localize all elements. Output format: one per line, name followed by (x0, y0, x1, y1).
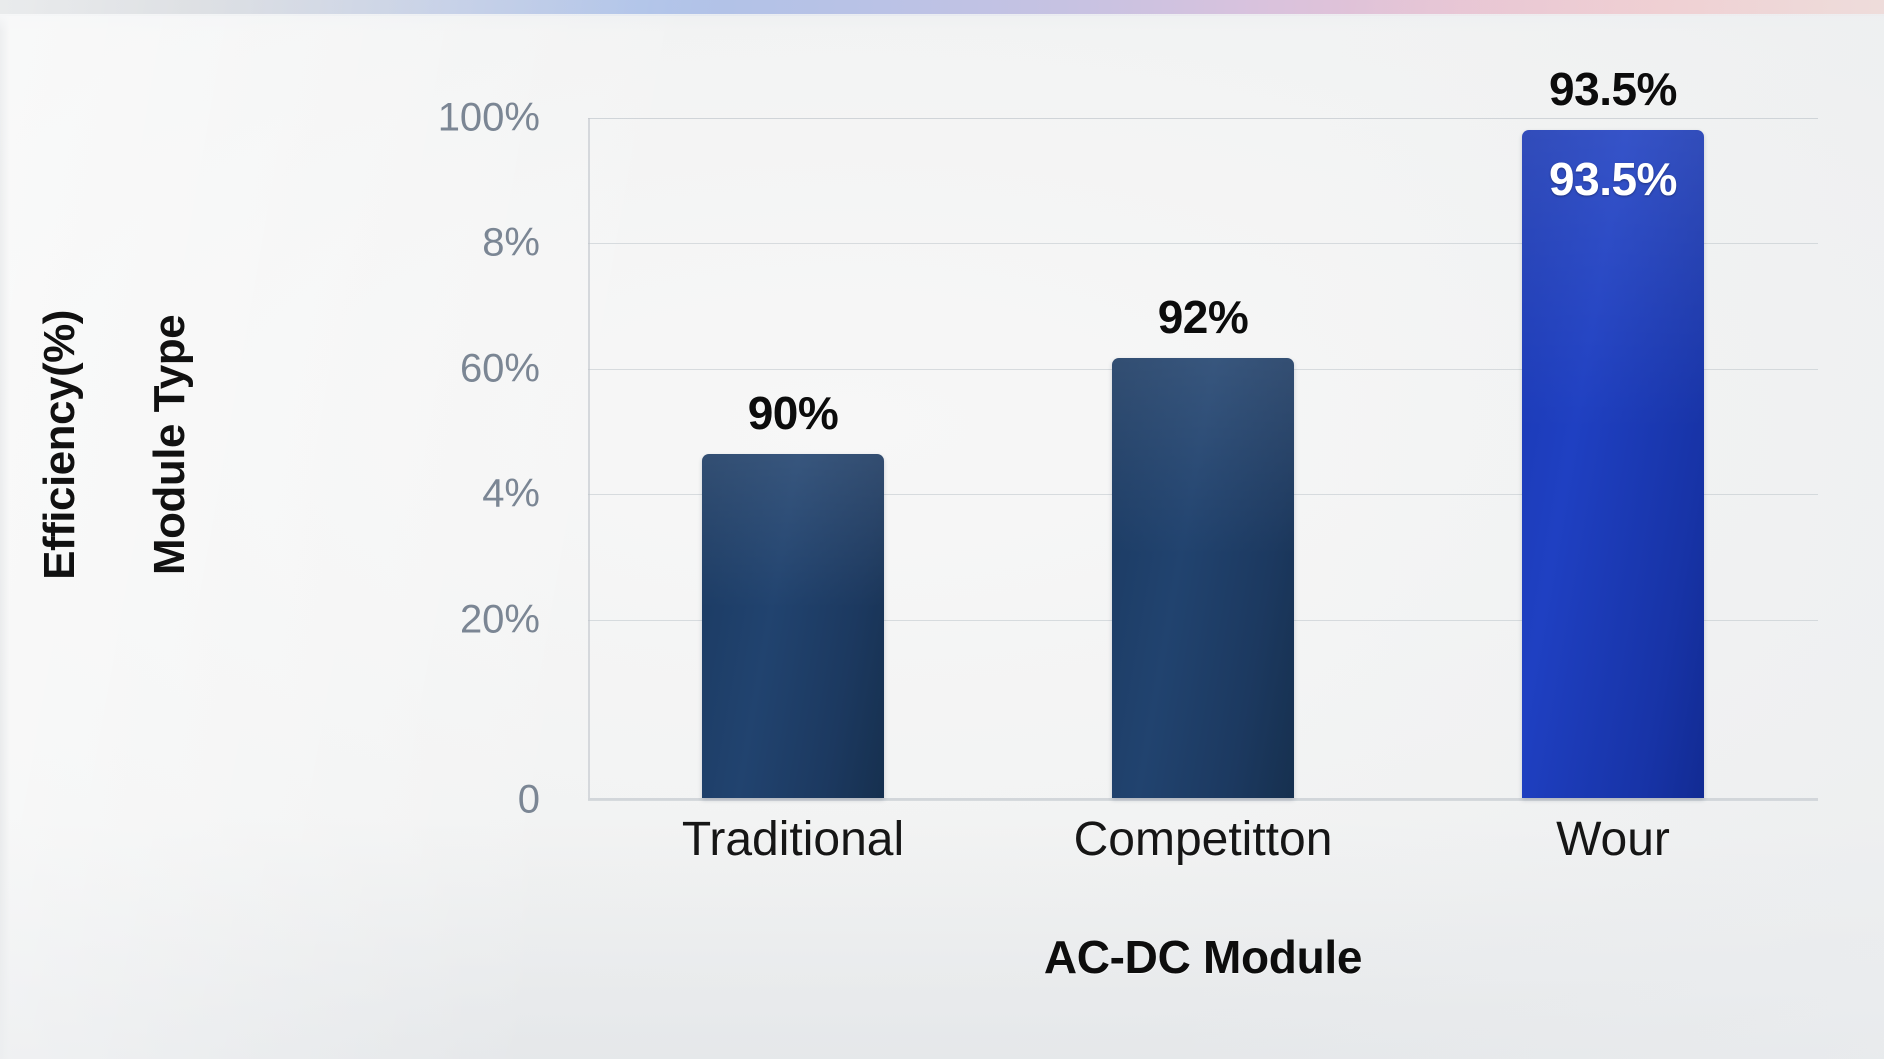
y-tick-label: 8% (360, 221, 540, 266)
x-tick-label: Competitton (998, 812, 1408, 867)
x-axis-tick-labels: TraditionalCompetittonWour (588, 812, 1818, 867)
bar-value-label: 92% (1158, 290, 1249, 344)
y-axis-title-efficiency: Efficiency(%) (35, 295, 85, 595)
background-left-edge (0, 0, 10, 1059)
bar-value-label: 93.5% (1549, 62, 1677, 116)
bar-gloss (702, 454, 884, 609)
bar-gloss (1112, 358, 1294, 556)
y-tick-label: 0 (360, 778, 540, 823)
y-tick-label: 100% (360, 96, 540, 141)
bar-slot: 90% (588, 118, 998, 798)
y-tick-label: 60% (360, 346, 540, 391)
x-tick-label: Wour (1408, 812, 1818, 867)
gridline (588, 800, 1818, 801)
top-gradient-fade (0, 14, 1884, 32)
bar[interactable]: 93.5% (1522, 130, 1704, 798)
bar[interactable] (702, 454, 884, 798)
y-axis-title-module-type: Module Type (145, 295, 195, 595)
plot-area: 90%92%93.5%93.5% (588, 118, 1818, 800)
x-axis-title: AC-DC Module (588, 930, 1818, 984)
bar-slot: 93.5%93.5% (1408, 118, 1818, 798)
y-tick-label: 20% (360, 597, 540, 642)
bar-series: 90%92%93.5%93.5% (588, 118, 1818, 798)
chart-canvas: Efficiency(%) Module Type 100%8%60%4%20%… (0, 0, 1884, 1059)
bar[interactable] (1112, 358, 1294, 798)
bar-slot: 92% (998, 118, 1408, 798)
x-tick-label: Traditional (588, 812, 998, 867)
bar-value-label: 90% (748, 386, 839, 440)
y-tick-label: 4% (360, 472, 540, 517)
bar-inner-value-label: 93.5% (1522, 152, 1704, 206)
y-axis-tick-labels: 100%8%60%4%20%0 (360, 0, 540, 1059)
